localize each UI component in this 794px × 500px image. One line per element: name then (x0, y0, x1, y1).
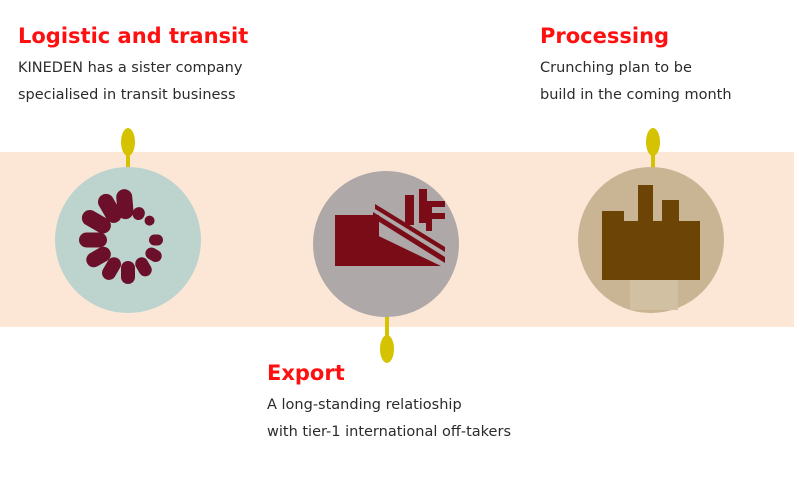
node-processing[interactable] (578, 167, 724, 313)
text-block-logistic: Logistic and transit KINEDEN has a siste… (18, 24, 248, 109)
node-logistic-and-transit[interactable] (55, 167, 201, 313)
section-line: build in the coming month (540, 82, 732, 109)
section-title-logistic: Logistic and transit (18, 24, 248, 48)
cargo-ship-icon (313, 171, 459, 317)
section-title-processing: Processing (540, 24, 732, 48)
section-line: with tier-1 international off-takers (267, 419, 511, 446)
node-export[interactable] (313, 171, 459, 317)
factory-plant-icon (578, 167, 724, 313)
section-title-export: Export (267, 361, 511, 385)
pin-bulb-icon (380, 335, 394, 363)
section-line: A long-standing relatioship (267, 392, 511, 419)
section-line: specialised in transit business (18, 82, 248, 109)
text-block-processing: Processing Crunching plan to be build in… (540, 24, 732, 109)
text-block-export: Export A long-standing relatioship with … (267, 361, 511, 446)
section-line: KINEDEN has a sister company (18, 55, 248, 82)
section-line: Crunching plan to be (540, 55, 732, 82)
spinner-radial-icon (55, 167, 201, 313)
